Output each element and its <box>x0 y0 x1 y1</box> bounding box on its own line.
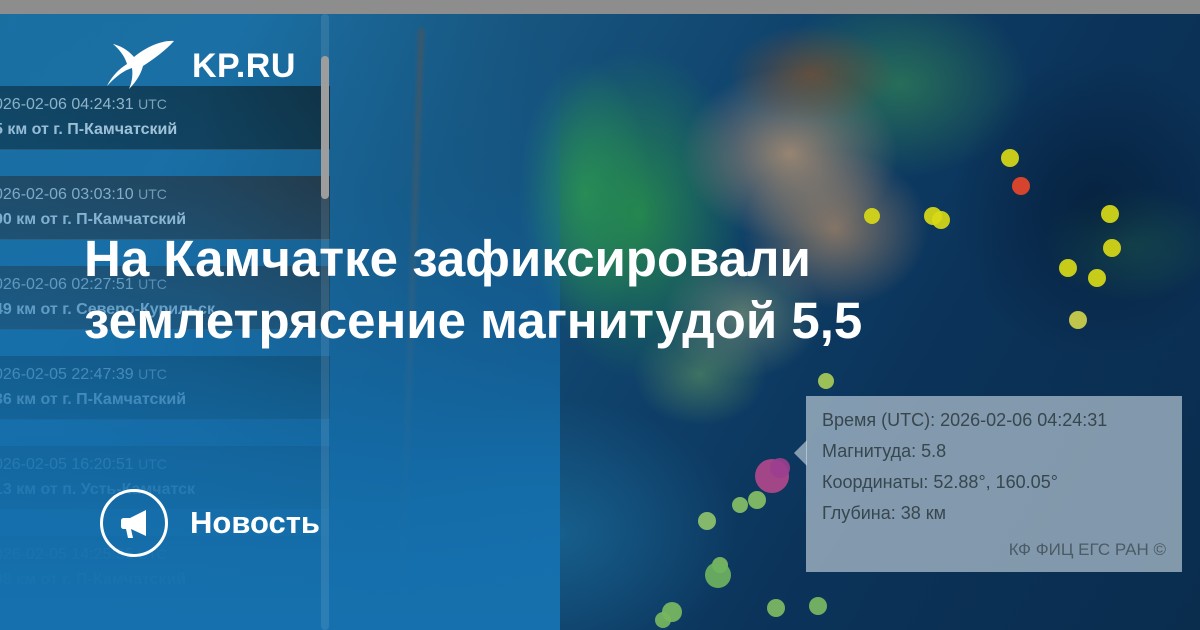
epicenter-marker[interactable] <box>770 458 790 478</box>
event-location: 90 км от г. П-Камчатский <box>0 211 322 229</box>
event-time: 026-02-05 16:20:51 UTC <box>0 456 322 474</box>
event-time: 026-02-06 03:03:10 UTC <box>0 186 322 204</box>
epicenter-marker[interactable] <box>698 512 716 530</box>
epicenter-marker[interactable] <box>1101 205 1119 223</box>
event-location: 98 км от г. П-Камчатский <box>0 571 322 589</box>
event-time-utc-suffix: UTC <box>138 366 167 382</box>
logo-text: KP.RU <box>192 47 296 86</box>
event-list-item[interactable]: 026-02-06 04:24:31 UTC5 км от г. П-Камча… <box>0 86 330 150</box>
news-badge[interactable]: Новость <box>100 489 320 557</box>
epicenter-marker[interactable] <box>732 497 748 513</box>
nav-item-nablyudeniya[interactable]: Наблюдения <box>679 0 769 1</box>
info-depth: Глубина: 38 км <box>822 503 1166 524</box>
epicenter-marker[interactable] <box>1103 239 1121 257</box>
event-location: 36 км от г. П-Камчатский <box>0 391 322 409</box>
kp-ru-news-card: 026-02-06 04:24:31 UTC5 км от г. П-Камча… <box>0 0 1200 630</box>
event-time-utc-suffix: UTC <box>138 96 167 112</box>
headline-line-2: землетрясение магнитудой 5,5 <box>84 290 984 352</box>
event-location: 5 км от г. П-Камчатский <box>0 121 322 139</box>
epicenter-marker[interactable] <box>1012 177 1030 195</box>
epicenter-marker[interactable] <box>1088 269 1106 287</box>
epicenter-marker[interactable] <box>1059 259 1077 277</box>
site-navigation-bar[interactable]: анизация Новости Наблюдения Наука <box>0 0 1200 14</box>
swallow-bird-icon <box>104 38 178 95</box>
epicenter-marker[interactable] <box>655 612 671 628</box>
nav-item-organizaciya[interactable]: анизация <box>0 0 42 1</box>
event-time-utc-suffix: UTC <box>138 186 167 202</box>
epicenter-marker[interactable] <box>864 208 880 224</box>
event-time: 026-02-05 22:47:39 UTC <box>0 366 322 384</box>
epicenter-marker[interactable] <box>1001 149 1019 167</box>
epicenter-marker[interactable] <box>818 373 834 389</box>
sidebar-scrollbar-thumb[interactable] <box>321 56 329 199</box>
epicenter-marker[interactable] <box>748 491 766 509</box>
event-list-item[interactable] <box>0 626 330 630</box>
nav-item-nauka[interactable]: Наука <box>1060 0 1102 1</box>
tooltip-pointer <box>794 440 807 466</box>
page-title: На Камчатке зафиксировали землетрясение … <box>84 228 984 352</box>
epicenter-marker[interactable] <box>932 211 950 229</box>
epicenter-marker[interactable] <box>1069 311 1087 329</box>
epicenter-marker[interactable] <box>767 599 785 617</box>
megaphone-icon <box>100 489 168 557</box>
info-magnitude: Магнитуда: 5.8 <box>822 441 1166 462</box>
headline-line-1: На Камчатке зафиксировали <box>84 230 811 287</box>
epicenter-marker[interactable] <box>809 597 827 615</box>
event-list-item[interactable]: 026-02-05 22:47:39 UTC36 км от г. П-Камч… <box>0 356 330 420</box>
kp-ru-logo[interactable]: KP.RU <box>104 38 296 95</box>
earthquake-info-panel: Время (UTC): 2026-02-06 04:24:31 Магниту… <box>806 396 1182 572</box>
news-badge-label: Новость <box>190 505 320 541</box>
event-time-utc-suffix: UTC <box>138 456 167 472</box>
info-coordinates: Координаты: 52.88°, 160.05° <box>822 472 1166 493</box>
epicenter-marker[interactable] <box>705 562 731 588</box>
info-time: Время (UTC): 2026-02-06 04:24:31 <box>822 410 1166 431</box>
event-time: 026-02-06 04:24:31 UTC <box>0 96 322 114</box>
nav-item-novosti[interactable]: Новости <box>349 0 408 1</box>
info-credit: КФ ФИЦ ЕГС РАН © <box>822 540 1166 560</box>
